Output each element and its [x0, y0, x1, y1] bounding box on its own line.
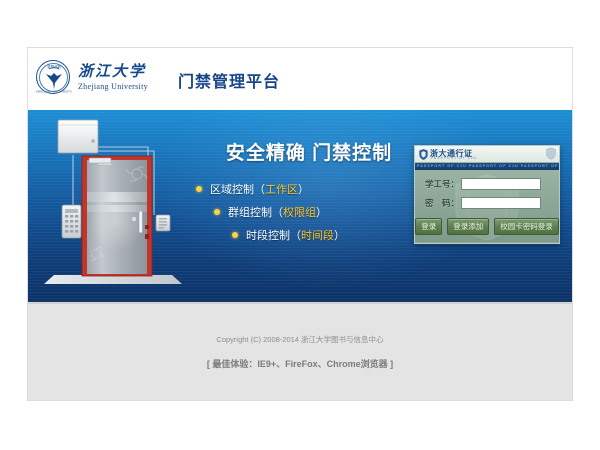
site-footer: Copyright (C) 2008-2014 浙江大学图书与信息中心 [ 最佳… — [28, 302, 572, 400]
footer-divider — [28, 302, 572, 304]
student-id-label: 学工号： — [425, 178, 461, 190]
zju-emblem-icon: 求是创新 ZHEJIANG UNIVERSITY — [36, 60, 72, 96]
login-panel-subtitle: PASSPORT OF ZJU — [431, 156, 477, 160]
logo-english-name: Zhejiang University — [78, 82, 148, 91]
student-id-row: 学工号： — [425, 170, 559, 190]
bullet-dot-icon — [214, 209, 220, 215]
login-panel-header: 浙大通行证 PASSPORT OF ZJU — [415, 146, 559, 163]
feature-text: 时段控制（ — [246, 227, 301, 243]
feature-accent: 时间段 — [301, 227, 334, 243]
password-row: 密 码： — [425, 190, 559, 209]
feature-accent: 工作区 — [265, 181, 298, 197]
login-button-group: 登录 登录添加 校园卡密码登录 — [415, 218, 559, 235]
university-logo[interactable]: 求是创新 ZHEJIANG UNIVERSITY 浙江大学 Zhejiang U… — [36, 60, 148, 96]
list-item: 区域控制（工作区） — [196, 181, 422, 197]
student-id-input[interactable] — [461, 178, 541, 190]
svg-text:ZHEJIANG UNIVERSITY: ZHEJIANG UNIVERSITY — [36, 90, 72, 94]
password-input[interactable] — [461, 197, 541, 209]
list-item: 群组控制（权限组） — [196, 204, 422, 220]
login-form: 学工号： 密 码： 登录 登录添加 校园卡密码登录 — [415, 170, 559, 242]
passport-repeat-strip: PASSPORT OF ZJU PASSPORT OF ZJU PASSPORT… — [415, 163, 559, 170]
feature-accent: 权限组 — [283, 204, 316, 220]
hero-copy: 安全精确 门禁控制 区域控制（工作区） 群组控制（权限组） 时段控制（时间段） — [196, 138, 422, 250]
campus-card-login-button[interactable]: 校园卡密码登录 — [494, 218, 559, 235]
login-panel: 浙大通行证 PASSPORT OF ZJU PASSPORT OF ZJU PA… — [414, 145, 560, 244]
feature-list: 区域控制（工作区） 群组控制（权限组） 时段控制（时间段） — [196, 181, 422, 243]
access-control-door-illustration — [40, 112, 192, 298]
page-title: 门禁管理平台 — [178, 68, 280, 92]
logo-chinese-name: 浙江大学 — [78, 65, 148, 81]
bullet-dot-icon — [196, 186, 202, 192]
feature-text: 区域控制（ — [210, 181, 265, 197]
login-button[interactable]: 登录 — [415, 218, 442, 235]
svg-text:求是创新: 求是创新 — [47, 64, 61, 69]
feature-tail: ） — [316, 204, 327, 220]
password-label: 密 码： — [425, 197, 461, 209]
list-item: 时段控制（时间段） — [196, 227, 422, 243]
feature-tail: ） — [334, 227, 345, 243]
shield-watermark-icon — [546, 147, 556, 160]
feature-text: 群组控制（ — [228, 204, 283, 220]
page-frame: 求是创新 ZHEJIANG UNIVERSITY 浙江大学 Zhejiang U… — [28, 48, 572, 400]
browser-recommendation-text: [ 最佳体验：IE9+、FireFox、Chrome浏览器 ] — [28, 357, 572, 370]
feature-tail: ） — [298, 181, 309, 197]
hero-headline: 安全精确 门禁控制 — [196, 138, 422, 165]
hero-banner: 安全精确 门禁控制 区域控制（工作区） 群组控制（权限组） 时段控制（时间段） — [28, 110, 572, 302]
bullet-dot-icon — [232, 232, 238, 238]
login-add-button[interactable]: 登录添加 — [447, 218, 489, 235]
site-header: 求是创新 ZHEJIANG UNIVERSITY 浙江大学 Zhejiang U… — [28, 48, 572, 110]
shield-icon — [419, 149, 428, 160]
copyright-text: Copyright (C) 2008-2014 浙江大学图书与信息中心 — [28, 334, 572, 345]
